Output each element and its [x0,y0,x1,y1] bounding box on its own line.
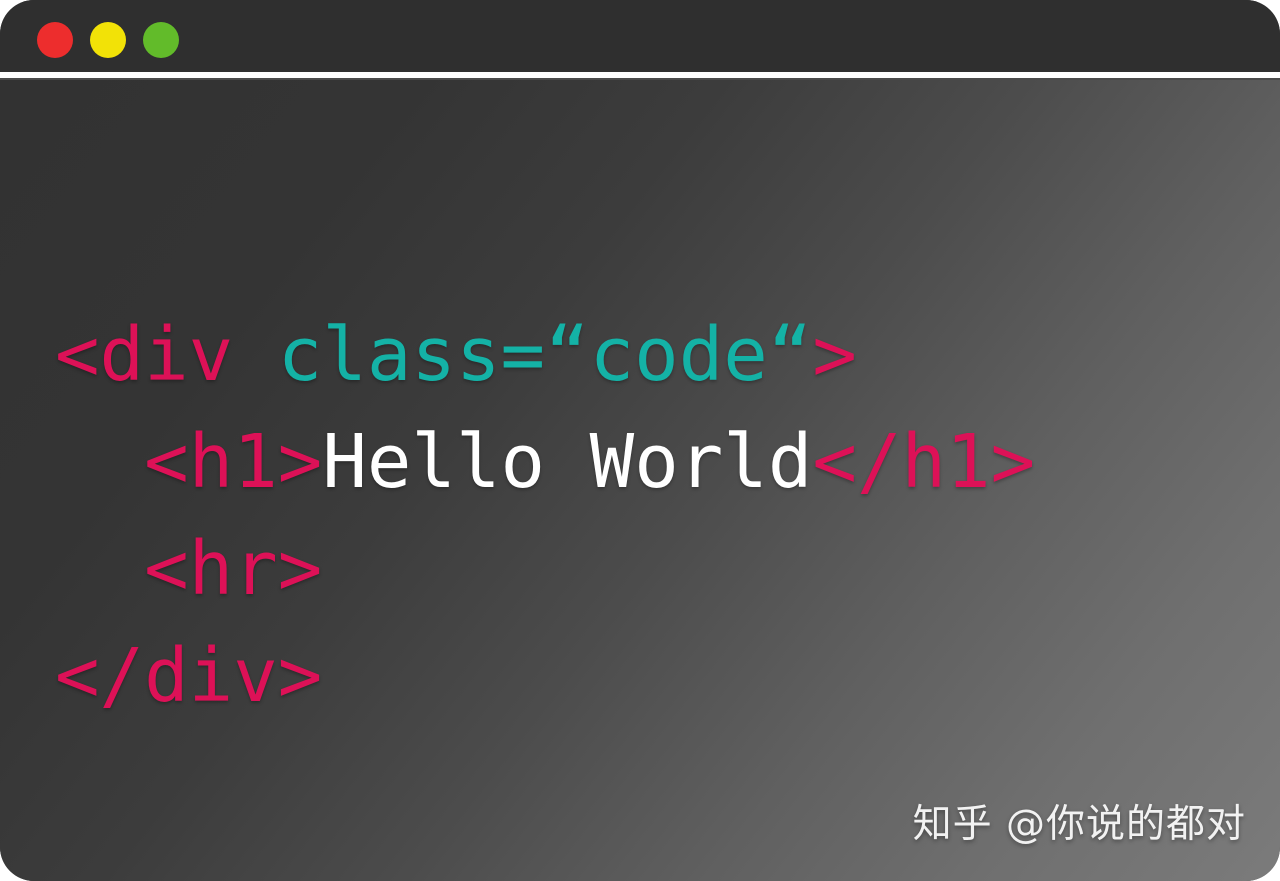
maximize-button-icon[interactable] [143,22,179,58]
minimize-button-icon[interactable] [90,22,126,58]
code-token-tag: </h1> [812,419,1035,505]
code-editor-surface: <div class=“code“> <h1>Hello World</h1> … [0,78,1280,881]
close-button-icon[interactable] [37,22,73,58]
code-line: </div> [55,623,1035,730]
code-block[interactable]: <div class=“code“> <h1>Hello World</h1> … [55,302,1035,730]
code-window: <div class=“code“> <h1>Hello World</h1> … [0,0,1280,881]
code-token-tag: <h1> [144,419,322,505]
code-token-space [55,526,144,612]
code-token-tag: <hr> [144,526,322,612]
zhihu-watermark: 知乎 @你说的都对 [913,793,1246,849]
code-line: <div class=“code“> [55,302,1035,409]
code-token-tag: </div> [55,633,322,719]
code-token-tag: <div [55,312,278,398]
window-titlebar [0,0,1280,72]
window-controls [37,22,179,58]
code-token-attr: class=“code“ [278,312,813,398]
code-token-space [55,419,144,505]
code-token-text: Hello World [322,419,812,505]
code-line: <hr> [55,516,1035,623]
code-token-tag: > [812,312,857,398]
code-line: <h1>Hello World</h1> [55,409,1035,516]
titlebar-separator-shadow [0,78,1280,80]
